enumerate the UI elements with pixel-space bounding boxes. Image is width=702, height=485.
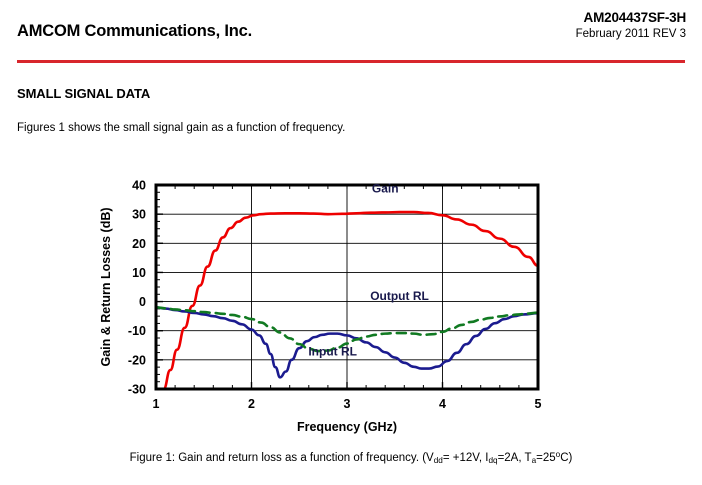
- chart-canvas: 12345 -30-20-10010203040 GainOutput RLIn…: [0, 160, 702, 440]
- header-divider-rule: [17, 60, 685, 63]
- header-right-block: AM204437SF-3H February 2011 REV 3: [576, 10, 686, 40]
- x-axis-label: Frequency (GHz): [297, 420, 397, 434]
- series-line-gain: [164, 212, 538, 389]
- x-tick-label: 3: [344, 397, 351, 411]
- caption-mid1: = +12V, I: [443, 452, 489, 464]
- company-name: AMCOM Communications, Inc.: [17, 22, 252, 41]
- caption-mid2: =2A, T: [498, 452, 532, 464]
- figure-1-chart: 12345 -30-20-10010203040 GainOutput RLIn…: [0, 160, 702, 440]
- x-tick-label: 2: [248, 397, 255, 411]
- section-title: SMALL SIGNAL DATA: [17, 86, 150, 101]
- y-tick-label: 40: [132, 179, 146, 193]
- y-tick-label: 20: [132, 237, 146, 251]
- chart-y-tick-labels: -30-20-10010203040: [128, 179, 146, 397]
- y-tick-label: 0: [139, 295, 146, 309]
- part-number: AM204437SF-3H: [576, 10, 686, 25]
- chart-annotations: GainOutput RLInput RL: [308, 181, 429, 358]
- caption-sub-idq: dq: [488, 456, 497, 465]
- chart-x-tick-labels: 12345: [153, 397, 542, 411]
- x-tick-label: 4: [439, 397, 446, 411]
- series-annotation-input-rl: Input RL: [308, 344, 357, 358]
- series-annotation-gain: Gain: [372, 181, 399, 195]
- caption-prefix: Figure 1: Gain and return loss as a func…: [130, 452, 434, 464]
- document-header: AMCOM Communications, Inc. AM204437SF-3H…: [0, 0, 702, 56]
- caption-end: C): [560, 452, 572, 464]
- x-tick-label: 1: [153, 397, 160, 411]
- y-tick-label: -30: [128, 383, 146, 397]
- caption-suffix: =25: [536, 452, 556, 464]
- y-tick-label: -10: [128, 324, 146, 338]
- caption-sub-vdd: dd: [434, 456, 443, 465]
- figure-caption: Figure 1: Gain and return loss as a func…: [0, 452, 702, 464]
- x-tick-label: 5: [535, 397, 542, 411]
- series-annotation-output-rl: Output RL: [370, 289, 429, 303]
- caption-sub-ta: a: [532, 456, 537, 465]
- revision-date: February 2011 REV 3: [576, 28, 686, 40]
- section-intro-text: Figures 1 shows the small signal gain as…: [17, 122, 345, 134]
- y-tick-label: -20: [128, 353, 146, 367]
- y-tick-label: 30: [132, 208, 146, 222]
- caption-degree-symbol: o: [556, 450, 561, 459]
- y-tick-label: 10: [132, 266, 146, 280]
- document-page: AMCOM Communications, Inc. AM204437SF-3H…: [0, 0, 702, 485]
- y-axis-label: Gain & Return Losses (dB): [99, 207, 113, 366]
